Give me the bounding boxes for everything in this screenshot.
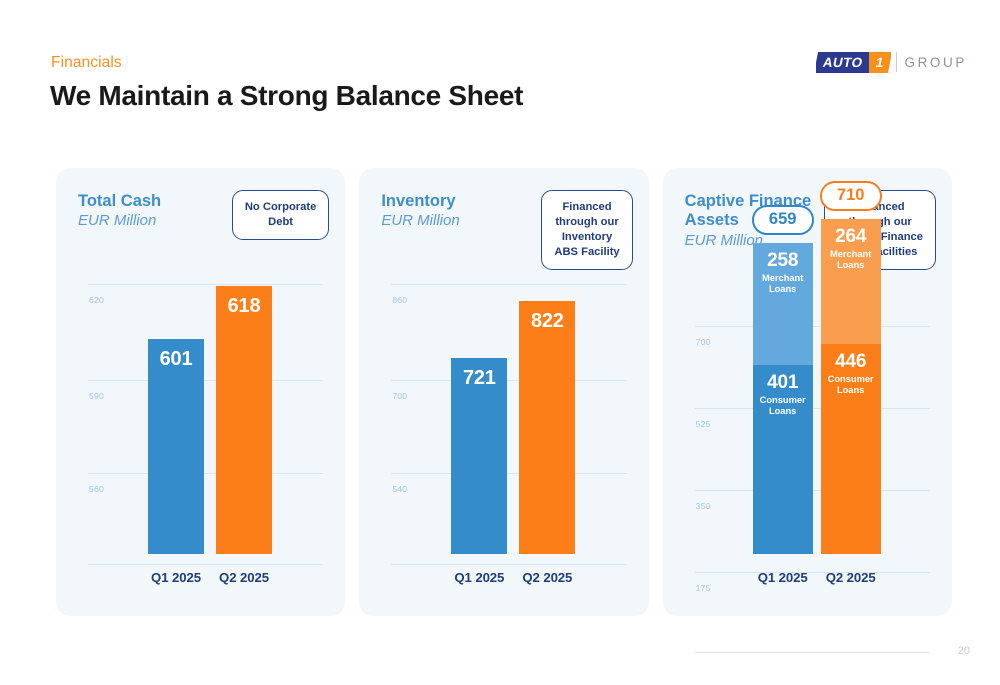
segment-value: 401 xyxy=(753,373,813,393)
card-title-block: Total Cash EUR Million xyxy=(78,190,161,230)
card-badge: Financed through our Inventory ABS Facil… xyxy=(541,190,632,270)
axis-baseline xyxy=(88,564,323,565)
segment-value: 264 xyxy=(821,227,881,247)
card-badge: No Corporate Debt xyxy=(232,190,329,240)
total-badge-q1: 659 xyxy=(752,205,814,235)
chart-total-cash: 620 590 560 601 618 xyxy=(88,284,323,554)
bar-column-q2[interactable]: 446 Consumer Loans 264 Merchant Loans 71… xyxy=(821,226,881,554)
card-inventory: Inventory EUR Million Financed through o… xyxy=(359,168,648,616)
card-subtitle: EUR Million xyxy=(381,212,459,230)
logo-one-block: 1 xyxy=(869,52,891,73)
logo-mark: AUTO 1 xyxy=(814,52,892,73)
chart-captive-finance: 700 525 350 175 401 Consumer Loans xyxy=(695,284,930,554)
total-badge-q2: 710 xyxy=(820,181,882,211)
segment-q2-consumer-loans[interactable]: 446 Consumer Loans xyxy=(821,344,881,554)
x-axis-labels: Q1 2025 Q2 2025 xyxy=(88,570,323,590)
bar-q2-2025[interactable]: 822 xyxy=(519,301,575,554)
segment-label-block: 446 Consumer Loans xyxy=(821,352,881,395)
auto1-group-logo: AUTO 1 GROUP xyxy=(816,51,967,73)
bar-value: 618 xyxy=(216,295,272,318)
bar-q2-2025[interactable]: 618 xyxy=(216,286,272,554)
page-number: 20 xyxy=(958,645,970,657)
bar-column-q2[interactable]: 618 xyxy=(216,284,272,554)
stacked-bar-q2-2025[interactable]: 446 Consumer Loans 264 Merchant Loans xyxy=(821,219,881,554)
x-axis-labels: Q1 2025 Q2 2025 xyxy=(695,570,930,590)
segment-label-block: 401 Consumer Loans xyxy=(753,373,813,416)
bar-q1-2025[interactable]: 601 xyxy=(148,339,204,554)
logo-group-text: GROUP xyxy=(904,55,967,70)
card-captive-finance-assets: Captive Finance Assets EUR Million Finan… xyxy=(663,168,952,616)
axis-baseline xyxy=(391,564,626,565)
card-total-cash: Total Cash EUR Million No Corporate Debt… xyxy=(56,168,345,616)
card-title: Total Cash xyxy=(78,192,161,211)
stacked-bar-q1-2025[interactable]: 401 Consumer Loans 258 Merchant Loans xyxy=(753,243,813,554)
bar-column-q1[interactable]: 601 xyxy=(148,284,204,554)
segment-label-block: 258 Merchant Loans xyxy=(753,251,813,294)
bar-group: 601 618 xyxy=(88,284,323,554)
segment-value: 446 xyxy=(821,352,881,372)
x-label-q2: Q2 2025 xyxy=(204,570,284,585)
segment-q1-merchant-loans[interactable]: 258 Merchant Loans xyxy=(753,243,813,365)
segment-q2-merchant-loans[interactable]: 264 Merchant Loans xyxy=(821,219,881,344)
logo-divider xyxy=(896,52,897,72)
segment-name: Consumer Loans xyxy=(753,395,813,416)
card-header: Total Cash EUR Million No Corporate Debt xyxy=(78,190,329,240)
bar-group: 721 822 xyxy=(391,284,626,554)
bar-column-q2[interactable]: 822 xyxy=(519,284,575,554)
bar-value: 721 xyxy=(451,367,507,390)
logo-auto-block: AUTO xyxy=(816,52,869,73)
segment-label-block: 264 Merchant Loans xyxy=(821,227,881,270)
bar-value: 822 xyxy=(519,310,575,333)
segment-name: Merchant Loans xyxy=(821,249,881,270)
x-label-q2: Q2 2025 xyxy=(811,570,891,585)
section-eyebrow: Financials xyxy=(51,54,122,72)
segment-q1-consumer-loans[interactable]: 401 Consumer Loans xyxy=(753,365,813,554)
bar-q1-2025[interactable]: 721 xyxy=(451,358,507,554)
bar-group: 401 Consumer Loans 258 Merchant Loans 65… xyxy=(695,226,930,554)
logo-auto-text: AUTO xyxy=(822,55,865,70)
x-axis-labels: Q1 2025 Q2 2025 xyxy=(391,570,626,590)
card-subtitle: EUR Million xyxy=(78,212,161,230)
page-title: We Maintain a Strong Balance Sheet xyxy=(50,80,523,112)
chart-inventory: 860 700 540 721 822 xyxy=(391,284,626,554)
logo-one-text: 1 xyxy=(875,55,885,70)
metric-cards: Total Cash EUR Million No Corporate Debt… xyxy=(56,168,952,616)
segment-value: 258 xyxy=(753,251,813,271)
segment-name: Merchant Loans xyxy=(753,273,813,294)
bar-column-q1[interactable]: 721 xyxy=(451,284,507,554)
segment-name: Consumer Loans xyxy=(821,374,881,395)
card-title-block: Inventory EUR Million xyxy=(381,190,459,230)
axis-baseline xyxy=(695,652,930,653)
card-header: Inventory EUR Million Financed through o… xyxy=(381,190,632,270)
x-label-q2: Q2 2025 xyxy=(507,570,587,585)
bar-value: 601 xyxy=(148,348,204,371)
bar-column-q1[interactable]: 401 Consumer Loans 258 Merchant Loans 65… xyxy=(753,226,813,554)
card-title: Inventory xyxy=(381,192,459,211)
